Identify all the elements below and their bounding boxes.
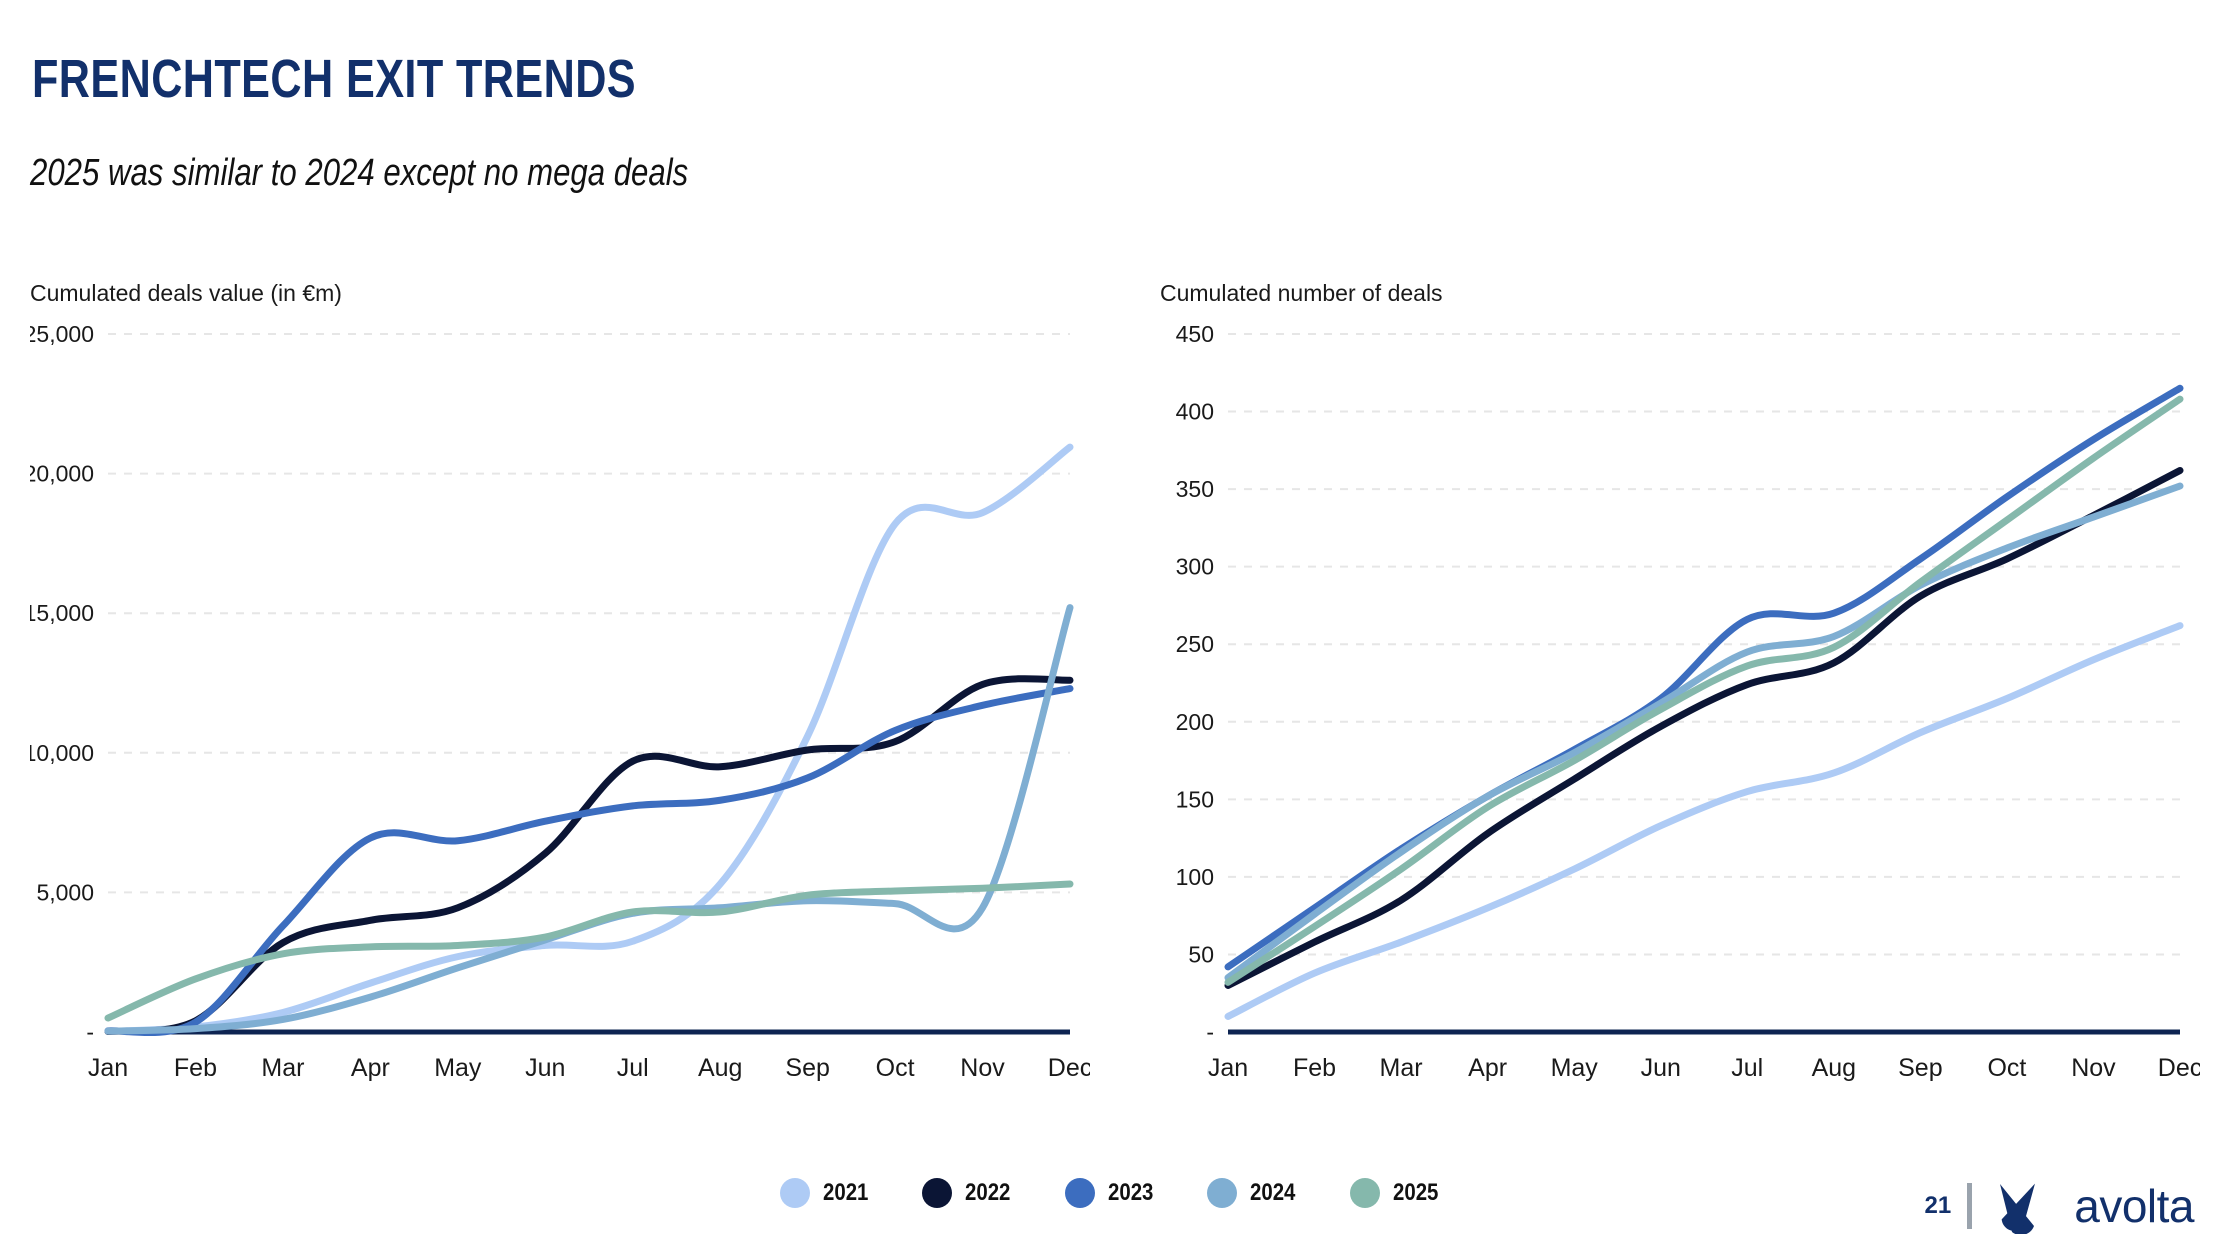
chart-panel-deals-count: Cumulated number of deals -5010015020025…	[1160, 280, 2200, 1110]
chart-title-deals-value: Cumulated deals value (in €m)	[30, 280, 342, 307]
x-tick-label: Aug	[1812, 1054, 1856, 1082]
x-tick-label: Oct	[1987, 1054, 2026, 1082]
series-line-2024	[1228, 486, 2180, 978]
legend-dot-2024-icon	[1207, 1178, 1237, 1208]
y-tick-label: 25,000	[30, 321, 94, 347]
x-tick-label: May	[434, 1054, 482, 1082]
y-tick-label: 150	[1176, 786, 1214, 812]
series-line-2021	[108, 447, 1070, 1031]
legend-label-2024: 2024	[1250, 1179, 1295, 1207]
legend-item-2021[interactable]: 2021	[780, 1178, 876, 1208]
y-tick-label: 50	[1188, 941, 1214, 967]
chart-panel-deals-value: Cumulated deals value (in €m) -5,00010,0…	[30, 280, 1090, 1110]
page-title: FRENCHTECH EXIT TRENDS	[32, 48, 636, 110]
x-tick-label: Feb	[174, 1054, 217, 1082]
legend-label-2022: 2022	[965, 1179, 1010, 1207]
y-tick-label: 200	[1176, 709, 1214, 735]
legend-item-2025[interactable]: 2025	[1350, 1178, 1446, 1208]
series-line-2022	[1228, 471, 2180, 986]
legend-label-2025: 2025	[1393, 1179, 1438, 1207]
series-line-2025	[1228, 399, 2180, 982]
x-tick-label: Feb	[1293, 1054, 1336, 1082]
footer-divider	[1967, 1183, 1972, 1229]
avolta-droplet-logo-icon	[1988, 1178, 2062, 1234]
y-tick-label: 15,000	[30, 600, 94, 626]
legend-item-2022[interactable]: 2022	[922, 1178, 1018, 1208]
chart-plot-deals-count: -50100150200250300350400450JanFebMarAprM…	[1160, 316, 2200, 1110]
page-number: 21	[1925, 1192, 1952, 1220]
x-tick-label: Dec	[2158, 1054, 2200, 1082]
x-tick-label: Jul	[617, 1054, 649, 1082]
page-subtitle: 2025 was similar to 2024 except no mega …	[30, 152, 688, 195]
legend-label-2023: 2023	[1108, 1179, 1153, 1207]
x-tick-label: Mar	[261, 1054, 304, 1082]
avolta-logo: avolta	[1988, 1178, 2194, 1234]
slide: FRENCHTECH EXIT TRENDS 2025 was similar …	[0, 0, 2226, 1250]
x-tick-label: May	[1551, 1054, 1599, 1082]
y-tick-label: 5,000	[36, 879, 94, 905]
legend-dot-2021-icon	[780, 1178, 810, 1208]
legend-label-2021: 2021	[823, 1179, 868, 1207]
x-tick-label: Aug	[698, 1054, 742, 1082]
x-tick-label: Sep	[1898, 1054, 1942, 1082]
legend-dot-2025-icon	[1350, 1178, 1380, 1208]
x-tick-label: Jul	[1731, 1054, 1763, 1082]
x-tick-label: Apr	[1468, 1054, 1507, 1082]
legend-dot-2022-icon	[922, 1178, 952, 1208]
x-tick-label: Jan	[88, 1054, 128, 1082]
series-line-2022	[108, 679, 1070, 1032]
chart-title-deals-count: Cumulated number of deals	[1160, 280, 1443, 307]
y-tick-label: 250	[1176, 631, 1214, 657]
y-tick-label: -	[1206, 1019, 1214, 1045]
y-tick-label: 10,000	[30, 740, 94, 766]
y-tick-label: 100	[1176, 864, 1214, 890]
y-tick-label: 350	[1176, 476, 1214, 502]
y-tick-label: 450	[1176, 321, 1214, 347]
legend-dot-2023-icon	[1065, 1178, 1095, 1208]
x-tick-label: Dec	[1048, 1054, 1090, 1082]
x-tick-label: Nov	[960, 1054, 1005, 1082]
x-tick-label: Jun	[525, 1054, 565, 1082]
x-tick-label: Jan	[1208, 1054, 1248, 1082]
series-line-2025	[108, 884, 1070, 1018]
footer: 21 avolta	[1925, 1178, 2194, 1234]
x-tick-label: Jun	[1641, 1054, 1681, 1082]
chart-legend: 2021 2022 2023 2024 2025	[0, 1178, 2226, 1208]
chart-plot-deals-value: -5,00010,00015,00020,00025,000JanFebMarA…	[30, 316, 1090, 1110]
y-tick-label: -	[86, 1019, 94, 1045]
avolta-wordmark: avolta	[2074, 1179, 2194, 1233]
y-tick-label: 300	[1176, 554, 1214, 580]
x-tick-label: Mar	[1380, 1054, 1423, 1082]
y-tick-label: 400	[1176, 399, 1214, 425]
x-tick-label: Nov	[2071, 1054, 2116, 1082]
legend-item-2024[interactable]: 2024	[1207, 1178, 1303, 1208]
legend-item-2023[interactable]: 2023	[1065, 1178, 1161, 1208]
x-tick-label: Apr	[351, 1054, 390, 1082]
y-tick-label: 20,000	[30, 461, 94, 487]
series-line-2023	[108, 689, 1070, 1033]
x-tick-label: Oct	[876, 1054, 915, 1082]
x-tick-label: Sep	[785, 1054, 829, 1082]
